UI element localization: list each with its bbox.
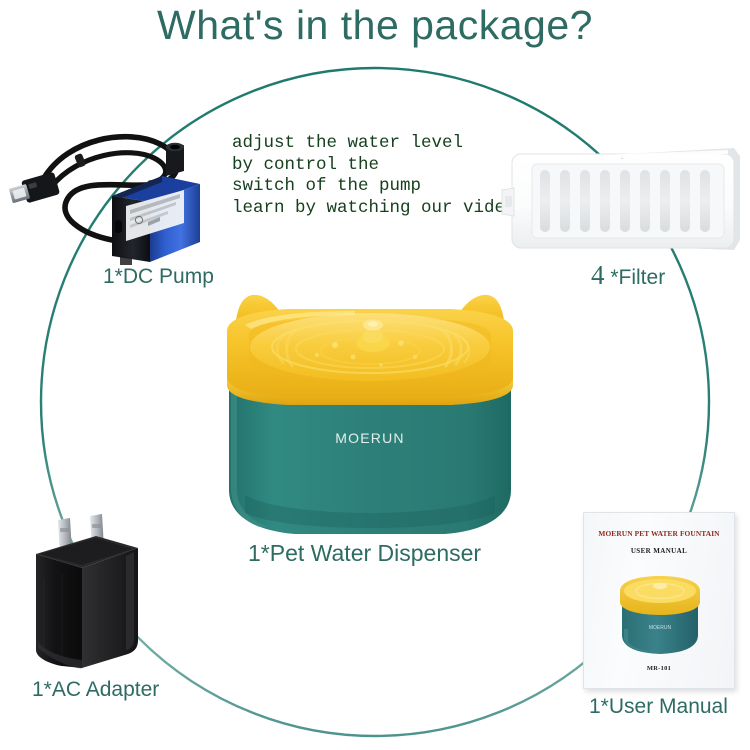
dc-pump-icon bbox=[8, 110, 213, 265]
pet-water-dispenser-image: MOERUN bbox=[205, 285, 535, 540]
ac-adapter-label: 1*AC Adapter bbox=[32, 678, 159, 702]
filter-label-text: *Filter bbox=[610, 266, 665, 289]
infographic-canvas: What's in the package? adjust the water … bbox=[0, 0, 750, 750]
user-manual-image: MOERUN PET WATER FOUNTAIN USER MANUAL bbox=[583, 512, 735, 689]
filter-label: 4 *Filter bbox=[591, 260, 665, 291]
manual-cover-model: MR-101 bbox=[584, 665, 734, 672]
manual-cover-title: MOERUN PET WATER FOUNTAIN bbox=[584, 529, 734, 538]
pet-fountain-icon: MOERUN bbox=[205, 285, 535, 540]
filter-count: 4 bbox=[591, 260, 605, 290]
manual-cover-subtitle: USER MANUAL bbox=[584, 547, 734, 555]
dc-pump-image: 1*DC Pump bbox=[8, 110, 213, 265]
water-level-note: adjust the water level by control the sw… bbox=[232, 133, 516, 219]
svg-text:MOERUN: MOERUN bbox=[335, 430, 404, 446]
ac-adapter-icon bbox=[22, 508, 158, 678]
manual-cover: MOERUN PET WATER FOUNTAIN USER MANUAL bbox=[583, 512, 735, 689]
svg-text:MOERUN: MOERUN bbox=[649, 625, 672, 631]
manual-cover-product-illustration: MOERUN bbox=[608, 569, 712, 661]
filter-cartridge-icon bbox=[498, 142, 746, 264]
ac-adapter-image: 1*AC Adapter bbox=[22, 508, 158, 678]
filter-image: 4 *Filter bbox=[498, 142, 746, 264]
dc-pump-label: 1*DC Pump bbox=[103, 265, 214, 289]
pet-water-dispenser-label: 1*Pet Water Dispenser bbox=[248, 540, 481, 567]
user-manual-label: 1*User Manual bbox=[589, 695, 728, 719]
